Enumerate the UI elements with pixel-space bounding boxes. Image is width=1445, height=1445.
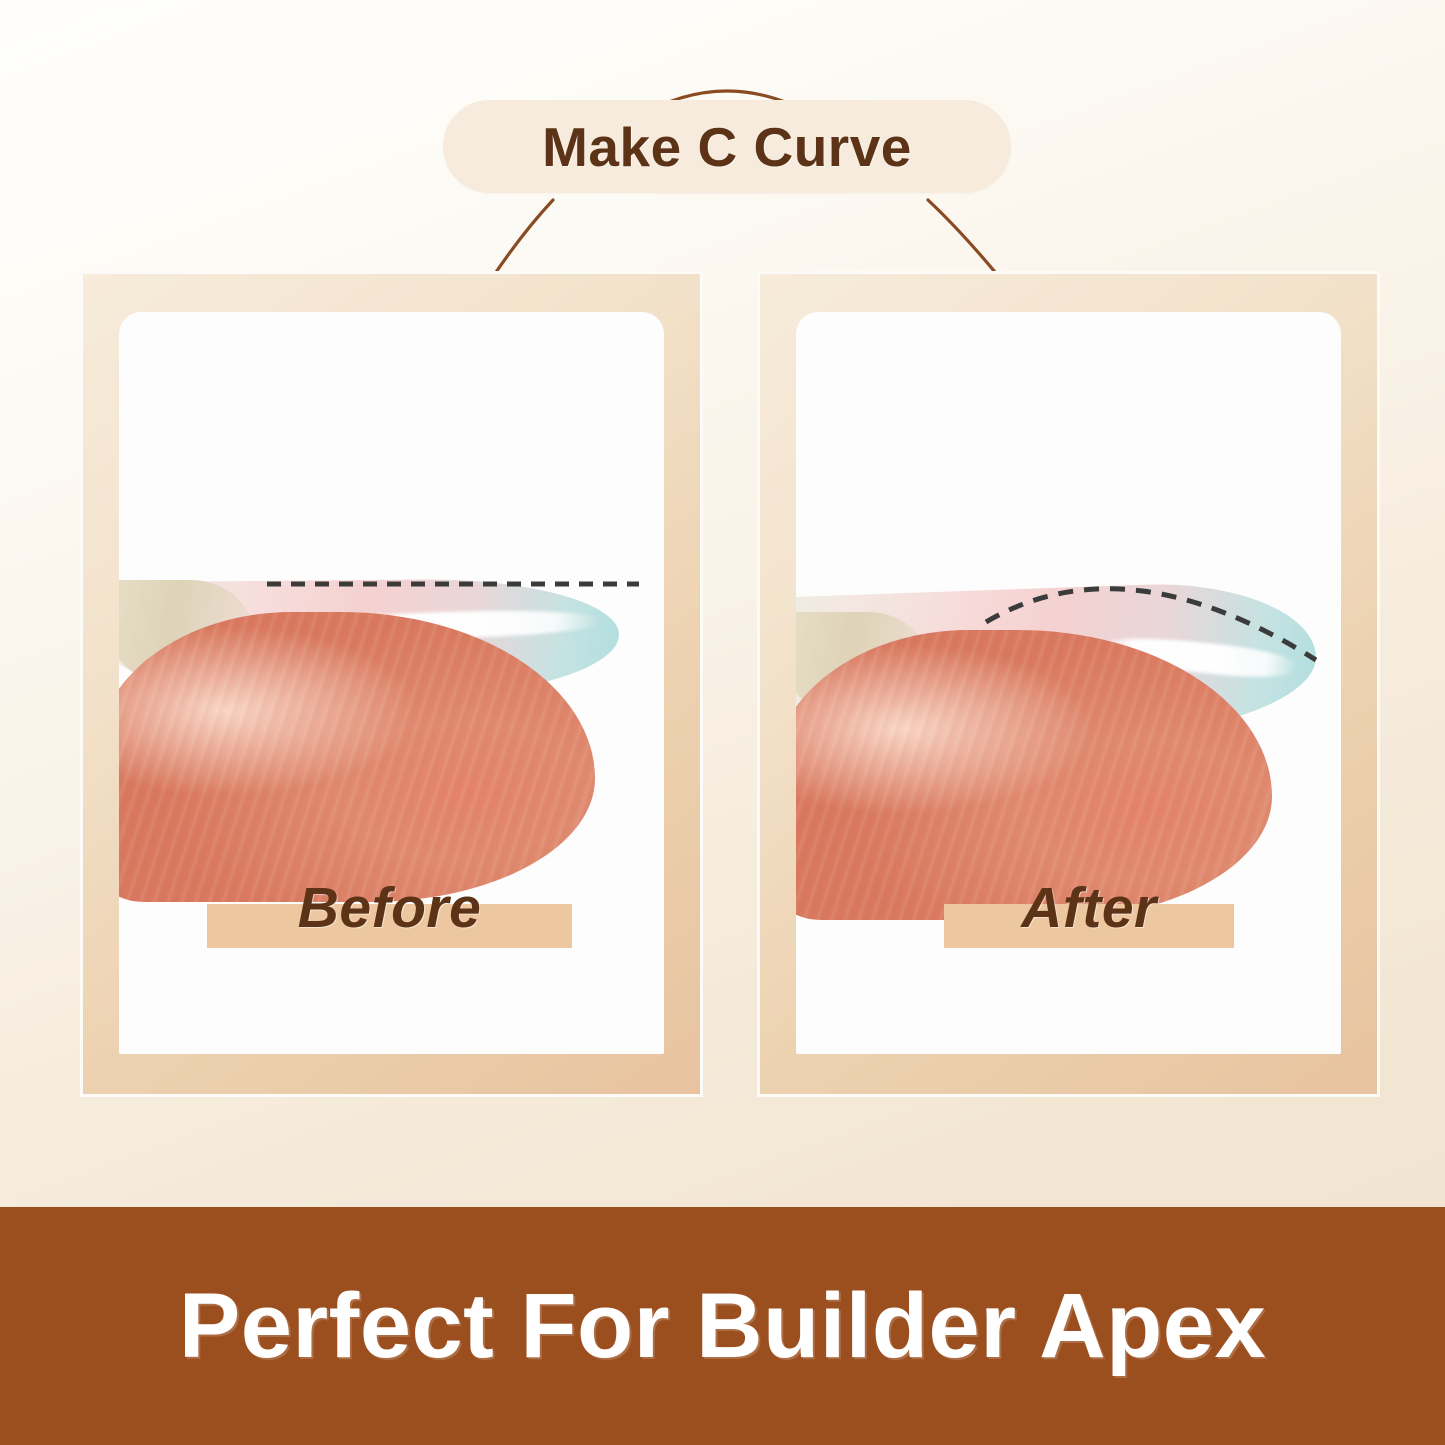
photo-after: After <box>796 312 1341 1054</box>
panel-after: After <box>760 274 1377 1094</box>
left-diagonal-connector-line <box>492 200 553 278</box>
caption-label-before: Before <box>298 875 482 941</box>
poster-root: Make C Curve Before <box>0 0 1445 1445</box>
banner-headline: Perfect For Builder Apex <box>179 1274 1266 1379</box>
caption-before: Before <box>207 860 572 956</box>
panel-before: Before <box>83 274 700 1094</box>
bottom-banner: Perfect For Builder Apex <box>0 1207 1445 1445</box>
right-diagonal-connector-line <box>928 200 1000 278</box>
photo-before: Before <box>119 312 664 1054</box>
page-title: Make C Curve <box>542 115 912 179</box>
caption-after: After <box>944 860 1234 956</box>
caption-label-after: After <box>1021 875 1157 941</box>
title-pill: Make C Curve <box>443 100 1011 193</box>
